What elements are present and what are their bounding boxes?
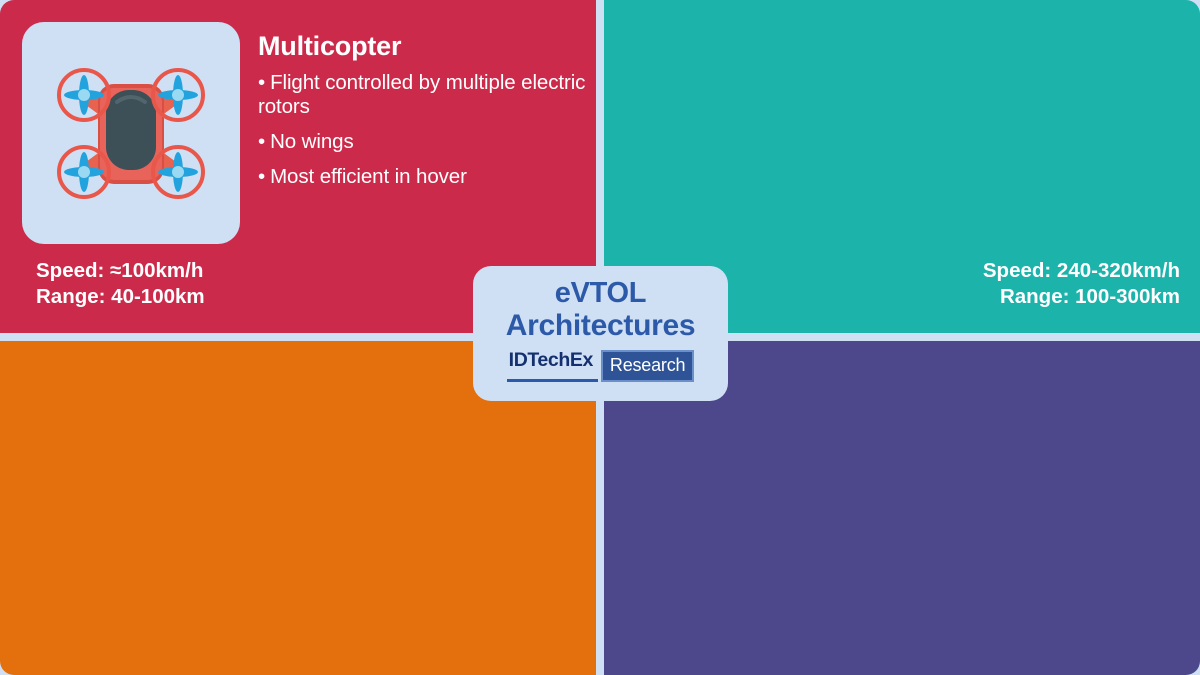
multicopter-bullet-list: •Flight controlled by multiple electric …	[258, 71, 588, 190]
multicopter-drone-icon	[22, 22, 240, 244]
logo-research-tag: Research	[601, 350, 694, 382]
badge-title-line2: Architectures	[506, 309, 696, 343]
spec-range: Range: 100-300km	[983, 284, 1180, 310]
badge-title-line1: eVTOL	[555, 277, 646, 309]
bullet-marker: •	[258, 165, 265, 188]
multicopter-spec-block: Speed: ≈100km/h Range: 40-100km	[36, 258, 205, 310]
list-item: •Flight controlled by multiple electric …	[258, 71, 588, 121]
logo-wordmark: IDTechEx	[507, 350, 598, 382]
spec-speed: Speed: ≈100km/h	[36, 258, 205, 284]
tiltrotor-spec-block: Speed: 240-320km/h Range: 100-300km	[983, 258, 1180, 310]
infographic-canvas: Multicopter •Flight controlled by multip…	[0, 0, 1200, 675]
multicopter-text-block: Multicopter •Flight controlled by multip…	[258, 32, 588, 200]
bullet-text: Flight controlled by multiple electric r…	[258, 71, 585, 119]
list-item: •Most efficient in hover	[258, 165, 588, 190]
card-title-multicopter: Multicopter	[258, 32, 588, 62]
bullet-text: No wings	[270, 130, 354, 153]
spec-range: Range: 40-100km	[36, 284, 205, 310]
bullet-marker: •	[258, 71, 265, 94]
bullet-marker: •	[258, 130, 265, 153]
bullet-text: Most efficient in hover	[270, 165, 467, 188]
spec-speed: Speed: 240-320km/h	[983, 258, 1180, 284]
list-item: •No wings	[258, 130, 588, 155]
center-badge: eVTOL Architectures IDTechEx Research	[473, 266, 728, 401]
idtechex-research-logo: IDTechEx Research	[507, 350, 695, 382]
